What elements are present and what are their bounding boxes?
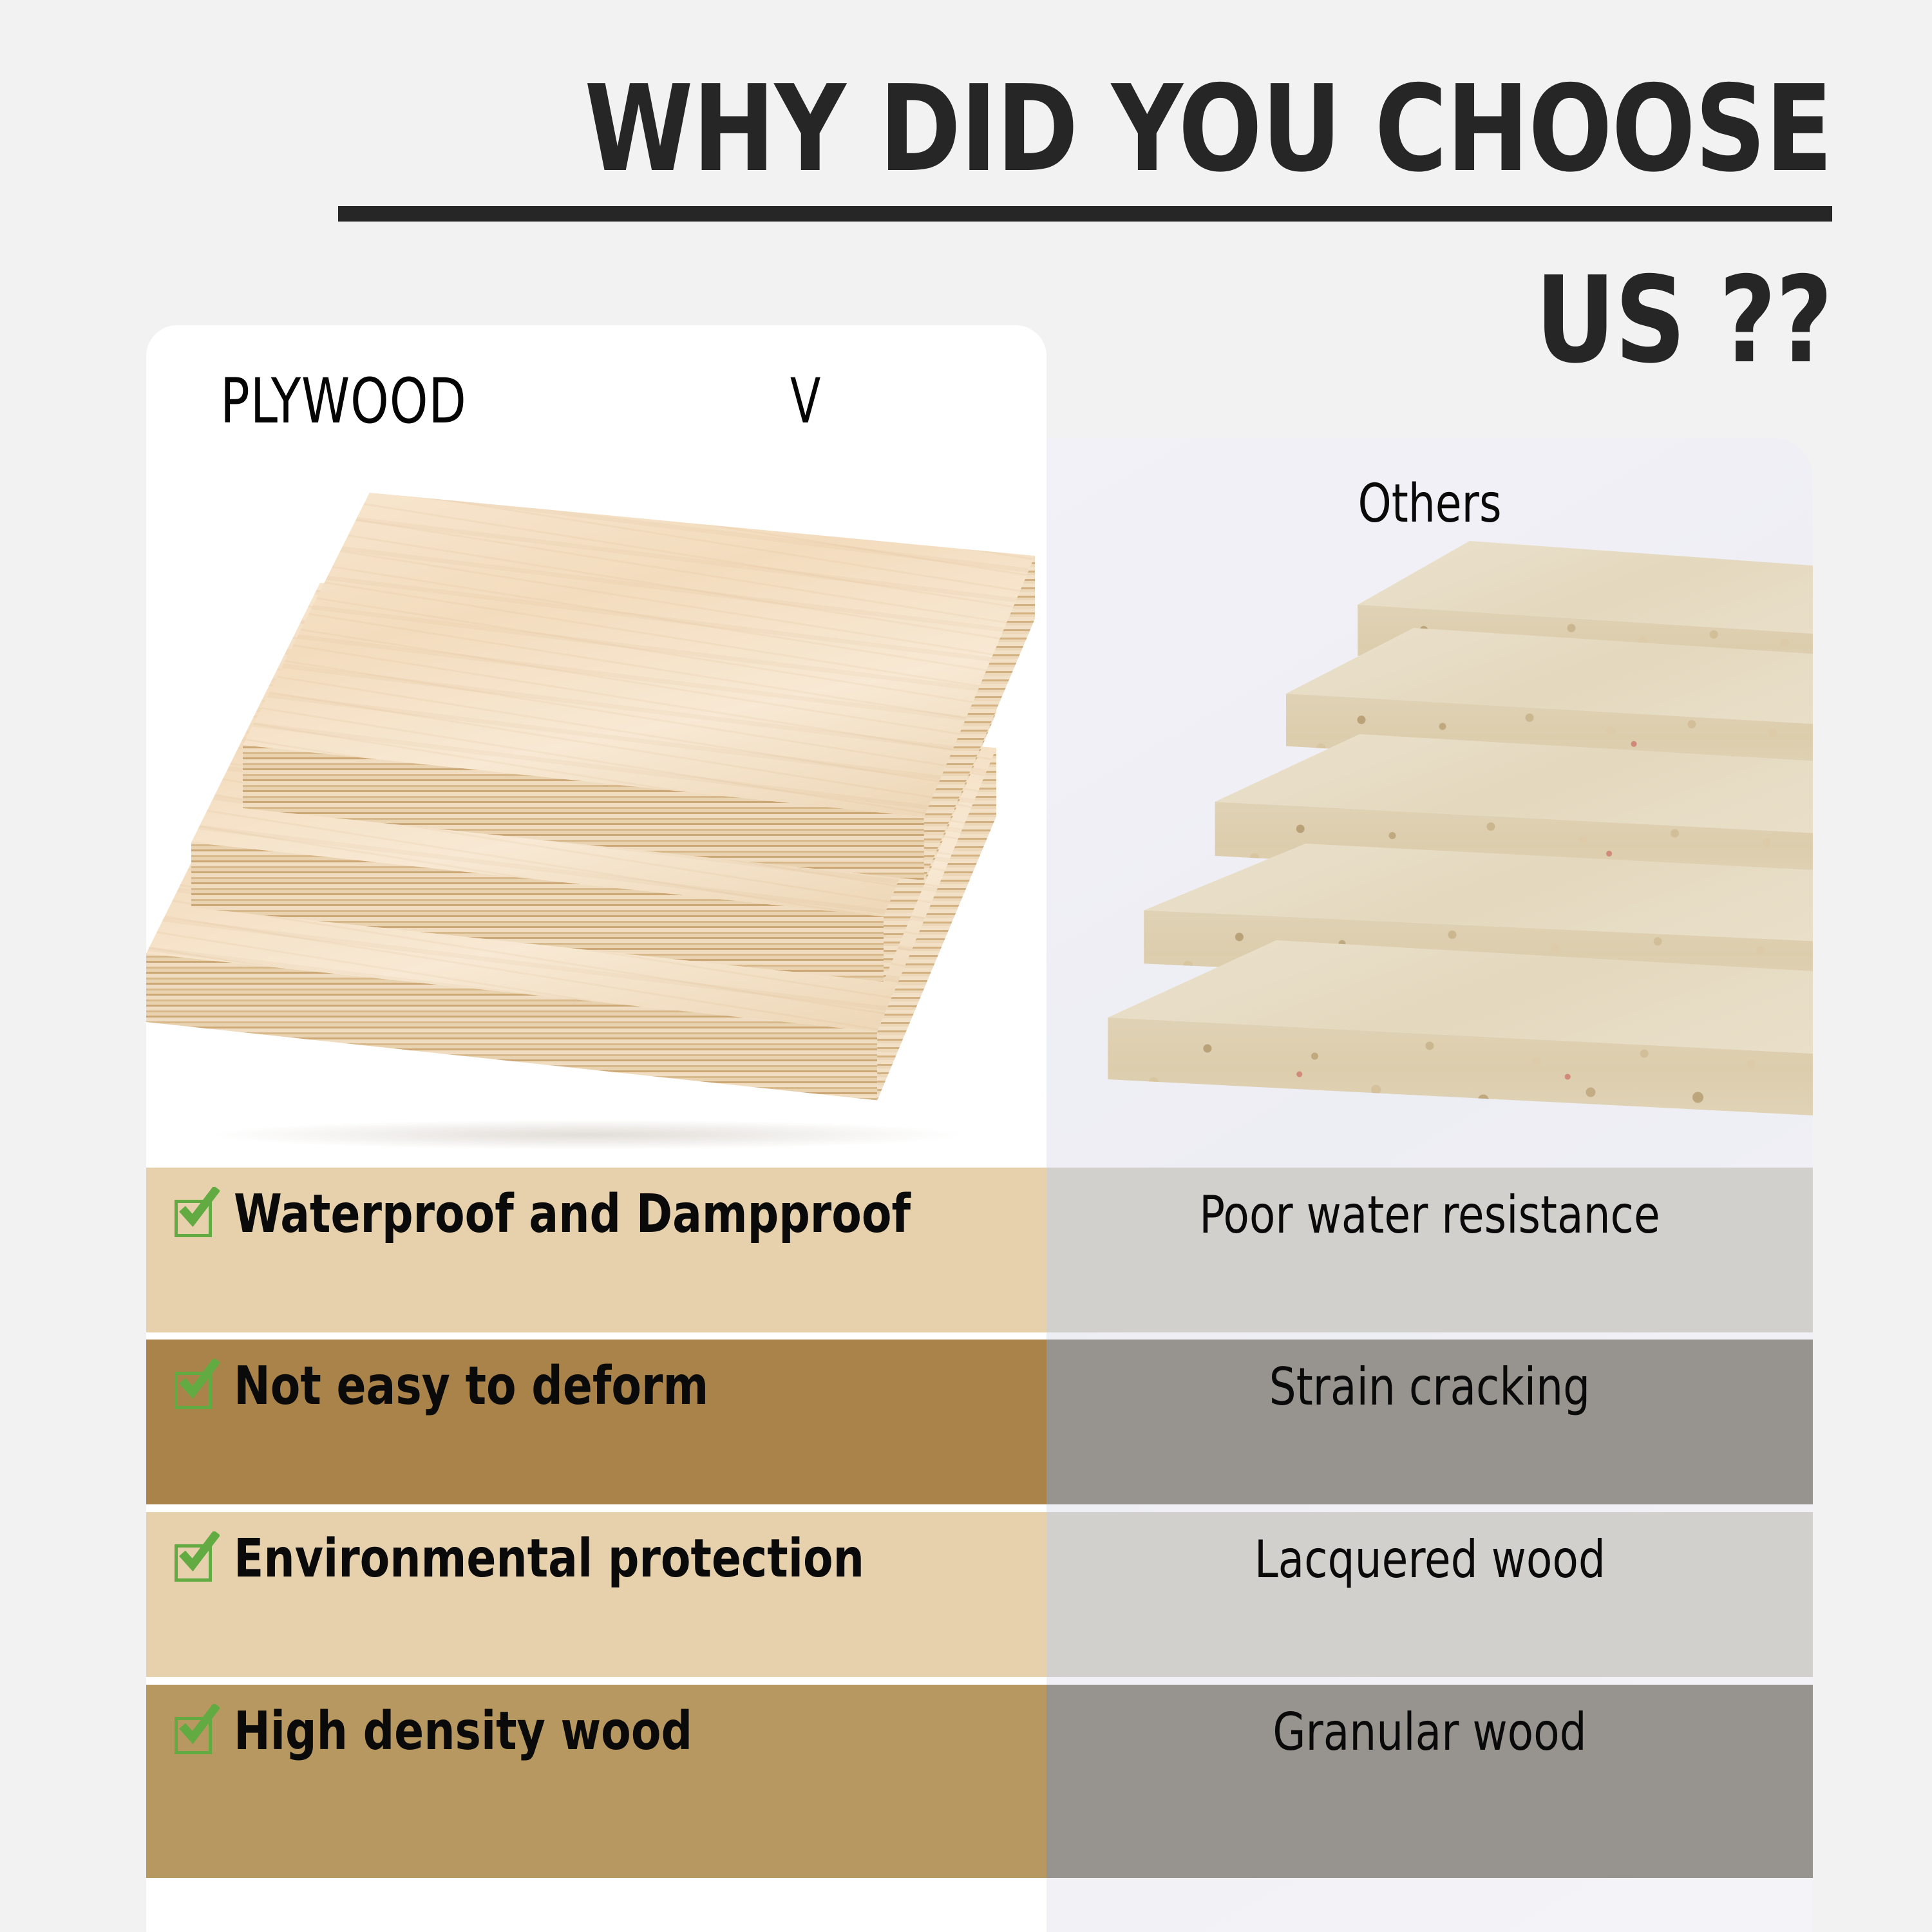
row-right-label: Strain cracking [1269, 1360, 1591, 1414]
table-row: Environmental protection Lacquered wood [0, 1512, 1932, 1677]
table-row: Not easy to deform Strain cracking [0, 1340, 1932, 1504]
row-left-cell: Not easy to deform [146, 1340, 1046, 1504]
row-right-label: Lacquered wood [1254, 1533, 1605, 1587]
plywood-label: PLYWOOD [220, 365, 467, 437]
table-row: High density wood Granular wood [0, 1685, 1932, 1878]
row-left-label: High density wood [234, 1704, 692, 1759]
green-check-box-icon [175, 1368, 216, 1409]
particleboard-sheet-5 [1046, 940, 1813, 1198]
row-left-label: Waterproof and Dampproof [234, 1187, 911, 1242]
row-right-cell: Granular wood [1046, 1685, 1813, 1878]
row-left-cell: Environmental protection [146, 1512, 1046, 1677]
plywood-sheet-top [243, 493, 1035, 943]
chevron-down-icon[interactable]: V [790, 365, 820, 437]
row-right-cell: Lacquered wood [1046, 1512, 1813, 1677]
green-check-box-icon [175, 1196, 216, 1237]
others-label: Others [1085, 473, 1775, 535]
plywood-shadow [217, 1120, 958, 1150]
row-right-label: Poor water resistance [1199, 1188, 1660, 1242]
plywood-stack-photo [146, 486, 1046, 1169]
row-right-cell: Strain cracking [1046, 1340, 1813, 1504]
row-left-cell: High density wood [146, 1685, 1046, 1878]
row-left-label: Not easy to deform [234, 1359, 708, 1414]
particleboard-stack-photo [1046, 541, 1813, 1256]
green-check-box-icon [175, 1540, 216, 1582]
table-row: Waterproof and Dampproof Poor water resi… [0, 1168, 1932, 1332]
row-left-cell: Waterproof and Dampproof [146, 1168, 1046, 1332]
green-check-box-icon [175, 1713, 216, 1754]
row-left-label: Environmental protection [234, 1531, 864, 1587]
row-right-label: Granular wood [1273, 1705, 1586, 1759]
row-right-cell: Poor water resistance [1046, 1168, 1813, 1332]
